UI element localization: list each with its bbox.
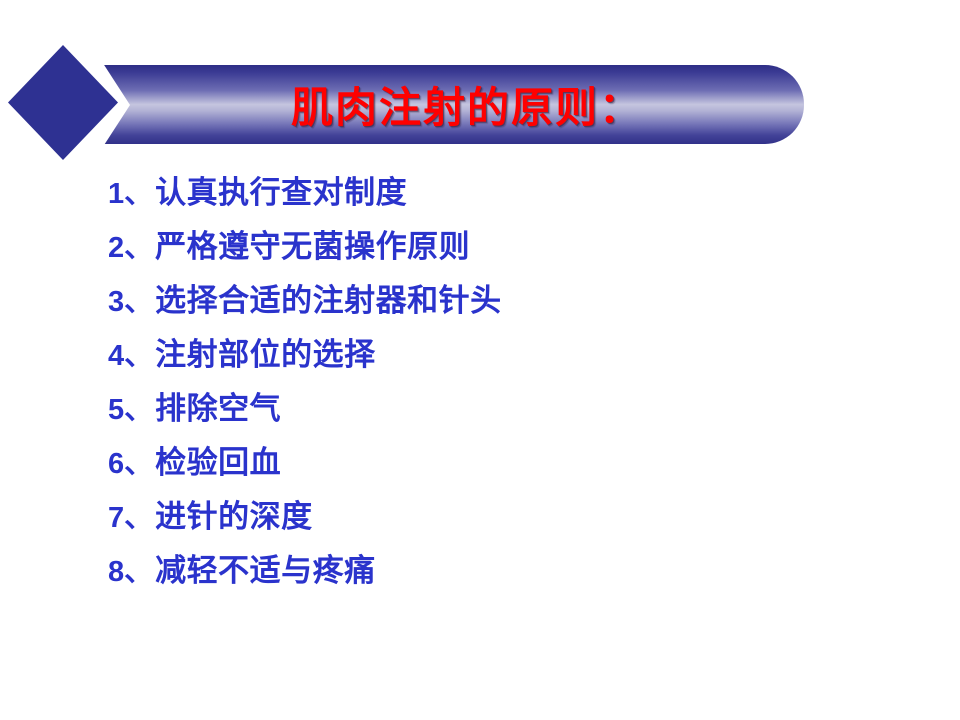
list-item-number: 4 [108, 342, 124, 371]
list-item-number: 8 [108, 558, 124, 587]
list-item: 8、减轻不适与疼痛 [108, 556, 868, 610]
list-item: 4、注射部位的选择 [108, 340, 868, 394]
list-item: 2、严格遵守无菌操作原则 [108, 232, 868, 286]
list-item-label: 进针的深度 [155, 502, 313, 533]
list-item-label: 注射部位的选择 [155, 340, 376, 371]
list-item-separator: 、 [124, 395, 153, 424]
page-title: 肌肉注射的原则： [130, 65, 804, 144]
list-item-separator: 、 [124, 557, 153, 586]
list-item-label: 选择合适的注射器和针头 [155, 286, 502, 317]
list-item-separator: 、 [124, 179, 153, 208]
list-item-separator: 、 [124, 287, 153, 316]
list-item-number: 3 [108, 288, 124, 317]
list-item: 1、认真执行查对制度 [108, 178, 868, 232]
list-item-separator: 、 [124, 233, 153, 262]
list-item-number: 2 [108, 234, 124, 263]
list-item-label: 认真执行查对制度 [155, 178, 407, 209]
list-item-separator: 、 [124, 503, 153, 532]
list-item-separator: 、 [124, 341, 153, 370]
list-item-number: 6 [108, 450, 124, 479]
list-item-label: 排除空气 [155, 394, 281, 425]
list-item: 6、检验回血 [108, 448, 868, 502]
list-item-number: 5 [108, 396, 124, 425]
list-item-number: 1 [108, 180, 124, 209]
list-item-label: 检验回血 [155, 448, 281, 479]
slide-canvas: 肌肉注射的原则： 1、认真执行查对制度2、严格遵守无菌操作原则3、选择合适的注射… [0, 0, 960, 720]
principles-list: 1、认真执行查对制度2、严格遵守无菌操作原则3、选择合适的注射器和针头4、注射部… [108, 178, 868, 610]
list-item: 7、进针的深度 [108, 502, 868, 556]
list-item-label: 严格遵守无菌操作原则 [155, 232, 470, 263]
list-item: 3、选择合适的注射器和针头 [108, 286, 868, 340]
list-item: 5、排除空气 [108, 394, 868, 448]
list-item-number: 7 [108, 504, 124, 533]
list-item-separator: 、 [124, 449, 153, 478]
list-item-label: 减轻不适与疼痛 [155, 556, 376, 587]
title-banner: 肌肉注射的原则： [0, 0, 960, 180]
